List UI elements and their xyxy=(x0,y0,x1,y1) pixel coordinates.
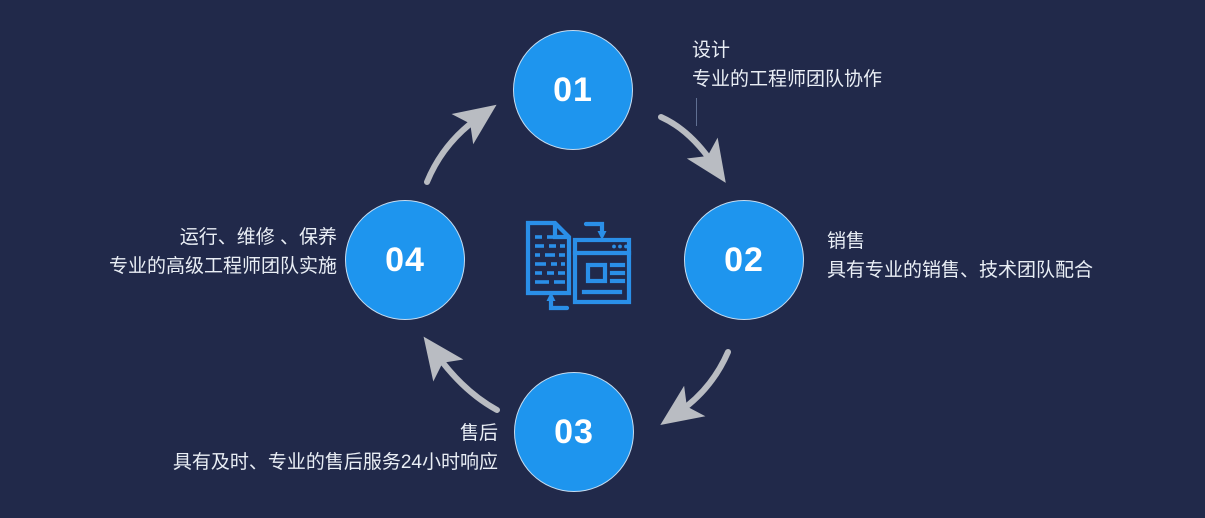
step-label-02-desc: 具有专业的销售、技术团队配合 xyxy=(827,257,1093,286)
step-node-02[interactable]: 02 xyxy=(684,200,804,320)
arrow-02-to-03 xyxy=(679,352,728,412)
step-label-02: 销售 具有专业的销售、技术团队配合 xyxy=(827,228,1093,285)
step-label-04: 运行、维修 、保养 专业的高级工程师团队实施 xyxy=(109,224,337,281)
step-label-04-desc: 专业的高级工程师团队实施 xyxy=(109,253,337,282)
step-label-04-title: 运行、维修 、保养 xyxy=(109,224,337,253)
arrow-03-to-04 xyxy=(437,355,497,410)
text-caret-artifact xyxy=(696,98,697,126)
arrow-01-to-02 xyxy=(661,117,713,164)
step-label-03: 售后 具有及时、专业的售后服务24小时响应 xyxy=(173,420,498,477)
step-label-03-title: 售后 xyxy=(173,420,498,449)
step-node-03-number: 03 xyxy=(554,415,594,449)
step-label-02-title: 销售 xyxy=(827,228,1093,257)
arrow-04-to-01 xyxy=(427,118,478,182)
step-label-03-desc: 具有及时、专业的售后服务24小时响应 xyxy=(173,449,498,478)
document-sync-icon xyxy=(522,210,634,320)
step-label-01: 设计 专业的工程师团队协作 xyxy=(692,37,882,94)
step-label-01-desc: 专业的工程师团队协作 xyxy=(692,66,882,95)
step-node-04-number: 04 xyxy=(385,243,425,277)
step-node-03[interactable]: 03 xyxy=(514,372,634,492)
step-node-02-number: 02 xyxy=(724,243,764,277)
step-label-01-title: 设计 xyxy=(692,37,882,66)
cycle-diagram-canvas: 01 02 03 04 设计 专业的工程师团队协作 销售 具有专业的销售、技术团… xyxy=(0,0,1205,518)
step-node-04[interactable]: 04 xyxy=(345,200,465,320)
step-node-01-number: 01 xyxy=(553,73,593,107)
step-node-01[interactable]: 01 xyxy=(513,30,633,150)
